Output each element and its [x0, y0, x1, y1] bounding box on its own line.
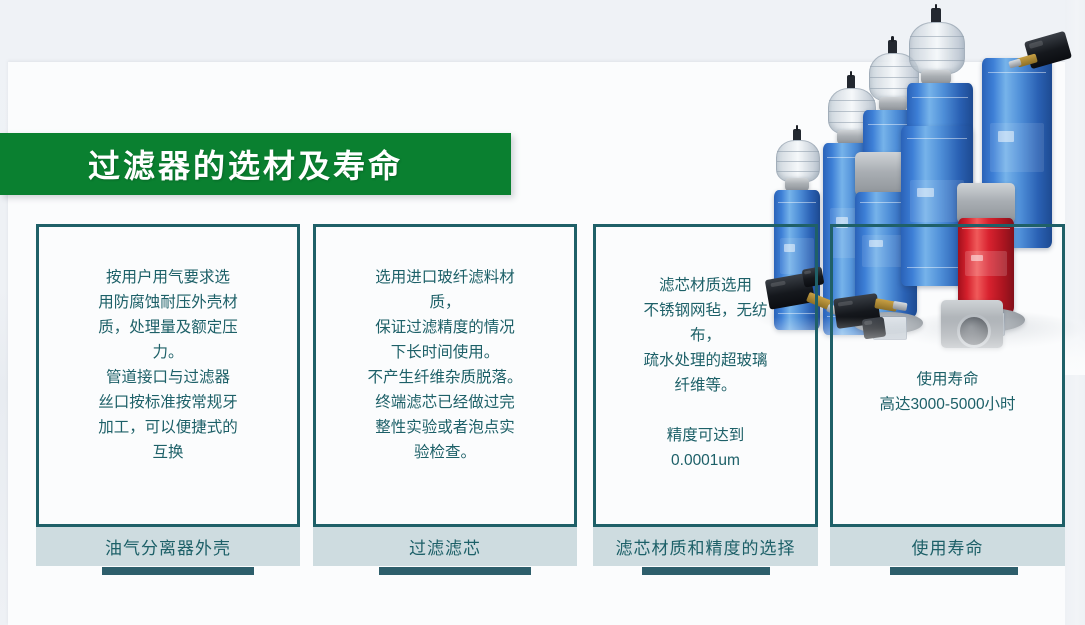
card-underline: [890, 567, 1018, 575]
card-body: 按用户用气要求选 用防腐蚀耐压外壳材 质，处理量及额定压 力。 管道接口与过滤器…: [39, 227, 297, 524]
clear-bowl: [776, 140, 820, 182]
vent-nipple-icon: [888, 40, 897, 54]
card-body-text: 滤芯材质选用 不锈钢网毡，无纺 布， 疏水处理的超玻璃 纤维等。 精度可达到 0…: [643, 273, 767, 473]
card-body-box: 按用户用气要求选 用防腐蚀耐压外壳材 质，处理量及额定压 力。 管道接口与过滤器…: [36, 224, 300, 527]
card-body-text: 按用户用气要求选 用防腐蚀耐压外壳材 质，处理量及额定压 力。 管道接口与过滤器…: [98, 265, 238, 465]
aluminium-head: [837, 130, 865, 144]
card-body: 滤芯材质选用 不锈钢网毡，无纺 布， 疏水处理的超玻璃 纤维等。 精度可达到 0…: [596, 227, 815, 524]
aluminium-head: [921, 70, 951, 84]
vent-nipple-icon: [847, 75, 855, 89]
vent-nipple-icon: [931, 8, 941, 23]
aluminium-head: [879, 97, 907, 111]
clear-bowl: [909, 22, 965, 74]
title-banner: 过滤器的选材及寿命: [0, 133, 511, 195]
card-element-material-and-precision[interactable]: 滤芯材质选用 不锈钢网毡，无纺 布， 疏水处理的超玻璃 纤维等。 精度可达到 0…: [593, 224, 818, 575]
card-body-box: 使用寿命 高达3000-5000小时: [830, 224, 1065, 527]
card-underline: [379, 567, 531, 575]
card-body-box: 滤芯材质选用 不锈钢网毡，无纺 布， 疏水处理的超玻璃 纤维等。 精度可达到 0…: [593, 224, 818, 527]
card-body-text: 使用寿命 高达3000-5000小时: [879, 367, 1015, 417]
card-oil-gas-separator-housing[interactable]: 按用户用气要求选 用防腐蚀耐压外壳材 质，处理量及额定压 力。 管道接口与过滤器…: [36, 224, 300, 575]
page-title: 过滤器的选材及寿命: [88, 141, 403, 187]
card-body: 选用进口玻纤滤料材 质， 保证过滤精度的情况 下长时间使用。 不产生纤维杂质脱落…: [316, 227, 574, 524]
card-body-box: 选用进口玻纤滤料材 质， 保证过滤精度的情况 下长时间使用。 不产生纤维杂质脱落…: [313, 224, 577, 527]
card-service-life[interactable]: 使用寿命 高达3000-5000小时 使用寿命: [830, 224, 1065, 575]
card-body-text: 选用进口玻纤滤料材 质， 保证过滤精度的情况 下长时间使用。 不产生纤维杂质脱落…: [367, 265, 522, 465]
aluminium-head: [957, 183, 1015, 223]
slide-stage: 过滤器的选材及寿命 按用户用气要求选 用防腐蚀耐压外壳材 质，处理量及额定压 力…: [0, 0, 1085, 625]
card-row: 按用户用气要求选 用防腐蚀耐压外壳材 质，处理量及额定压 力。 管道接口与过滤器…: [0, 224, 1085, 584]
card-underline: [102, 567, 254, 575]
card-footer-label: 过滤滤芯: [313, 527, 577, 566]
card-footer-label: 滤芯材质和精度的选择: [593, 527, 818, 566]
card-body: 使用寿命 高达3000-5000小时: [833, 227, 1062, 524]
card-underline: [642, 567, 770, 575]
card-footer-label: 油气分离器外壳: [36, 527, 300, 566]
card-footer-label: 使用寿命: [830, 527, 1065, 566]
card-filter-element[interactable]: 选用进口玻纤滤料材 质， 保证过滤精度的情况 下长时间使用。 不产生纤维杂质脱落…: [313, 224, 577, 575]
